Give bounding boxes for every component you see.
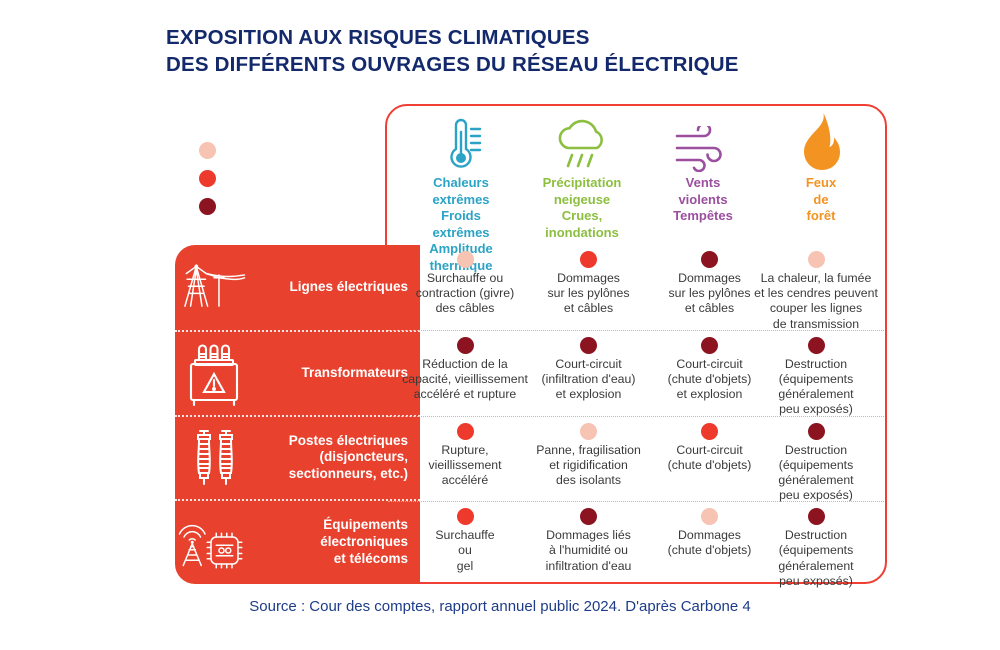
asset-row-2: Transformateurs (175, 330, 420, 415)
infographic-canvas: EXPOSITION AUX RISQUES CLIMATIQUES DES D… (0, 0, 1000, 650)
legend-item-forte (199, 192, 379, 220)
title-line-1: EXPOSITION AUX RISQUES CLIMATIQUES (166, 24, 866, 51)
legend-dot-faible (199, 142, 216, 159)
hazard-label: VentsviolentsTempêtes (643, 175, 763, 225)
matrix-row-3: Rupture,vieillissementaccéléréPanne, fra… (388, 416, 884, 502)
matrix-cell-r2-c2[interactable]: Court-circuit(infiltration d'eau)et expl… (528, 331, 649, 416)
sensitivity-matrix: Surchauffe oucontraction (givre)des câbl… (388, 245, 884, 584)
matrix-cell-r2-c1[interactable]: Réduction de lacapacité, vieillissementa… (402, 331, 528, 416)
cell-text: Court-circuit(chute d'objets)et explosio… (668, 357, 752, 403)
source-caption: Source : Cour des comptes, rapport annue… (0, 598, 1000, 615)
sensitivity-dot-forte (701, 251, 718, 268)
matrix-row-2: Réduction de lacapacité, vieillissementa… (388, 330, 884, 416)
matrix-cell-r4-c4[interactable]: Destruction(équipementsgénéralementpeu e… (748, 502, 884, 587)
legend-dot-forte (199, 198, 216, 215)
flame-icon (761, 110, 881, 172)
sensitivity-dot-forte (580, 337, 597, 354)
sensitivity-dot-moyenne (457, 508, 474, 525)
matrix-cell-r1-c1[interactable]: Surchauffe oucontraction (givre)des câbl… (402, 245, 528, 330)
power-line-icon (175, 252, 253, 322)
hazard-header-row: ChaleursextrêmesFroidsextrêmesAmplitudet… (385, 110, 887, 245)
sensitivity-dot-faible (808, 251, 825, 268)
legend-dot-moyenne (199, 170, 216, 187)
cell-text: Destruction(équipementsgénéralementpeu e… (778, 443, 853, 504)
cell-text: Dommagessur les pylôneset câbles (547, 271, 629, 317)
sensitivity-dot-faible (701, 508, 718, 525)
matrix-cell-r2-c4[interactable]: Destruction(équipementsgénéralementpeu e… (748, 331, 884, 416)
legend-item-faible (199, 136, 379, 164)
hazard-column-wind: VentsviolentsTempêtes (643, 110, 763, 225)
cell-text: Destruction(équipementsgénéralementpeu e… (778, 528, 853, 589)
matrix-cell-r1-c2[interactable]: Dommagessur les pylôneset câbles (528, 245, 649, 330)
cell-text: Destruction(équipementsgénéralementpeu e… (778, 357, 853, 418)
cell-text: Réduction de lacapacité, vieillissementa… (402, 357, 528, 403)
hazard-column-rain-cloud: PrécipitationneigeuseCrues,inondations (522, 110, 642, 241)
cell-text: Dommagessur les pylôneset câbles (668, 271, 750, 317)
legend-item-moyenne (199, 164, 379, 192)
title-line-2: DES DIFFÉRENTS OUVRAGES DU RÉSEAU ÉLECTR… (166, 51, 866, 78)
matrix-cell-r4-c2[interactable]: Dommages liésà l'humidité ouinfiltration… (528, 502, 649, 587)
cell-text: Court-circuit(chute d'objets) (668, 443, 752, 473)
substation-icon (175, 423, 253, 493)
sensitivity-dot-faible (580, 423, 597, 440)
cell-text: Dommages liésà l'humidité ouinfiltration… (546, 528, 632, 574)
cell-text: Rupture,vieillissementaccéléré (428, 443, 501, 489)
sensitivity-dot-forte (808, 337, 825, 354)
cell-text: Surchauffeougel (435, 528, 494, 574)
sensitivity-dot-faible (457, 251, 474, 268)
telecom-tower-icon (175, 509, 253, 577)
sensitivity-dot-forte (457, 337, 474, 354)
wind-icon (643, 110, 763, 172)
cell-text: Panne, fragilisationet rigidificationdes… (536, 443, 641, 489)
sensitivity-dot-moyenne (580, 251, 597, 268)
page-title: EXPOSITION AUX RISQUES CLIMATIQUES DES D… (166, 24, 866, 78)
hazard-column-flame: Feuxdeforêt (761, 110, 881, 225)
sensitivity-dot-moyenne (701, 423, 718, 440)
sensitivity-dot-forte (808, 423, 825, 440)
rain-cloud-icon (522, 110, 642, 172)
cell-text: La chaleur, la fuméeet les cendres peuve… (754, 271, 878, 332)
cell-text: Surchauffe oucontraction (givre)des câbl… (416, 271, 514, 317)
matrix-cell-r1-c4[interactable]: La chaleur, la fuméeet les cendres peuve… (748, 245, 884, 330)
hazard-label: Feuxdeforêt (761, 175, 881, 225)
hazard-label: PrécipitationneigeuseCrues,inondations (522, 175, 642, 241)
cell-text: Court-circuit(infiltration d'eau)et expl… (542, 357, 636, 403)
matrix-cell-r3-c1[interactable]: Rupture,vieillissementaccéléré (402, 417, 528, 502)
matrix-cell-r3-c2[interactable]: Panne, fragilisationet rigidificationdes… (528, 417, 649, 502)
sensitivity-dot-forte (701, 337, 718, 354)
thermometer-icon (401, 110, 521, 172)
sensitivity-dot-moyenne (457, 423, 474, 440)
asset-row-4: Équipementsélectroniqueset télécoms (175, 499, 420, 584)
transformer-icon (175, 338, 253, 408)
sensitivity-legend (199, 136, 379, 220)
asset-row-3: Postes électriques(disjoncteurs,sectionn… (175, 415, 420, 500)
matrix-row-1: Surchauffe oucontraction (givre)des câbl… (388, 245, 884, 330)
matrix-cell-r3-c4[interactable]: Destruction(équipementsgénéralementpeu e… (748, 417, 884, 502)
sensitivity-dot-forte (808, 508, 825, 525)
asset-panel: Lignes électriques Transformateurs (175, 245, 420, 584)
asset-row-1: Lignes électriques (175, 245, 420, 330)
matrix-cell-r4-c1[interactable]: Surchauffeougel (402, 502, 528, 587)
sensitivity-dot-forte (580, 508, 597, 525)
matrix-row-4: SurchauffeougelDommages liésà l'humidité… (388, 501, 884, 587)
cell-text: Dommages(chute d'objets) (668, 528, 752, 558)
